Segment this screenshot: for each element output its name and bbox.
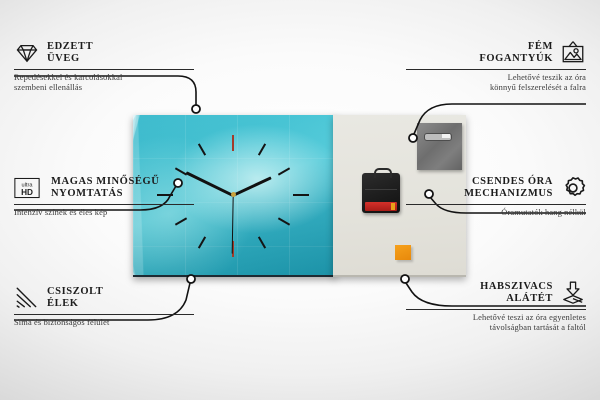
infographic-canvas: EDZETTÜVEG Repedésekkel és karcolásokkal… (0, 0, 600, 400)
feature-title: CSISZOLTÉLEK (47, 286, 103, 311)
feature-subtitle: Repedésekkel és karcolásokkalszembeni el… (14, 73, 194, 93)
feature-title: EDZETTÜVEG (47, 41, 93, 66)
polished-edges-icon (14, 285, 40, 311)
divider (406, 309, 586, 310)
divider (14, 69, 194, 70)
feature-tempered-glass: EDZETTÜVEG Repedésekkel és karcolásokkal… (14, 40, 194, 93)
metal-hanger-plate (417, 123, 462, 170)
diamond-icon (14, 40, 40, 66)
feature-subtitle: Sima és biztonságos felület (14, 318, 194, 328)
divider (406, 204, 586, 205)
feature-subtitle: Lehetővé teszi az óra egyenletestávolság… (406, 313, 586, 333)
feature-head: HABSZIVACSALÁTÉT (406, 280, 586, 306)
feature-subtitle: Intenzív színek és éles kép (14, 208, 194, 218)
hanger-loop (374, 168, 392, 178)
feature-title: CSENDES ÓRAMECHANIZMUS (464, 176, 553, 201)
hands-hub (231, 192, 236, 197)
divider (406, 69, 586, 70)
feature-title: MAGAS MINŐSÉGŰNYOMTATÁS (51, 176, 159, 201)
svg-text:HD: HD (21, 188, 33, 197)
divider (14, 204, 194, 205)
foam-pad-icon (560, 280, 586, 306)
feature-head: FÉMFOGANTYÚK (406, 40, 586, 66)
picture-hanger-icon (560, 40, 586, 66)
feature-polished-edges: CSISZOLTÉLEK Sima és biztonságos felület (14, 285, 194, 328)
tick-3 (293, 194, 309, 196)
feature-subtitle: Óramutatók hang nélkül (406, 208, 586, 218)
feature-head: CSENDES ÓRAMECHANIZMUS (406, 175, 586, 201)
divider (14, 314, 194, 315)
feature-metal-hangers: FÉMFOGANTYÚK Lehetővé teszik az órakönny… (406, 40, 586, 93)
feature-foam-spacer: HABSZIVACSALÁTÉT Lehetővé teszi az óra e… (406, 280, 586, 333)
gear-icon (560, 175, 586, 201)
feature-title: HABSZIVACSALÁTÉT (480, 281, 553, 306)
feature-high-quality-print: ultra HD MAGAS MINŐSÉGŰNYOMTATÁS Intenzí… (14, 175, 194, 218)
ultra-hd-icon: ultra HD (14, 175, 44, 201)
battery (365, 202, 397, 211)
feature-head: CSISZOLTÉLEK (14, 285, 194, 311)
feature-subtitle: Lehetővé teszik az órakönnyű felszerelés… (406, 73, 586, 93)
foam-spacer-pad (395, 245, 411, 260)
feature-head: ultra HD MAGAS MINŐSÉGŰNYOMTATÁS (14, 175, 194, 201)
feature-title: FÉMFOGANTYÚK (479, 41, 553, 66)
feature-head: EDZETTÜVEG (14, 40, 194, 66)
clock-mechanism-box (362, 173, 400, 213)
hanger-slot (424, 133, 452, 141)
feature-silent-mechanism: CSENDES ÓRAMECHANIZMUS Óramutatók hang n… (406, 175, 586, 218)
tick-12 (232, 135, 234, 151)
mechanism-seam (365, 189, 397, 190)
